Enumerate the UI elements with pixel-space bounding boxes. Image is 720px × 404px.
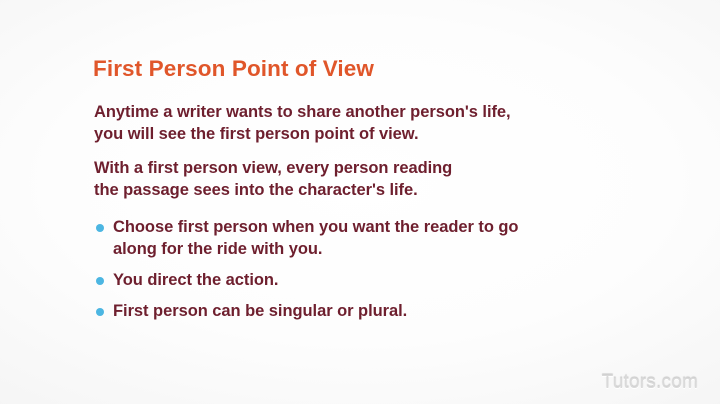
page-title: First Person Point of View	[93, 56, 374, 82]
bullet-list: Choose first person when you want the re…	[94, 216, 518, 322]
list-item: Choose first person when you want the re…	[94, 216, 518, 260]
list-item: You direct the action.	[94, 269, 518, 291]
bullet-dot-icon	[96, 224, 104, 232]
watermark-logo: Tutors.com	[602, 372, 698, 394]
list-item-line: along for the ride with you.	[113, 238, 518, 260]
slide-canvas: First Person Point of View Anytime a wri…	[0, 0, 720, 404]
paragraph-line: Anytime a writer wants to share another …	[94, 101, 511, 123]
list-item-line: First person can be singular or plural.	[113, 300, 518, 322]
list-item-line: You direct the action.	[113, 269, 518, 291]
paragraph-line: you will see the first person point of v…	[94, 123, 511, 145]
list-item-line: Choose first person when you want the re…	[113, 216, 518, 238]
paragraph-block-2: With a first person view, every person r…	[94, 157, 452, 201]
bullet-dot-icon	[96, 308, 104, 316]
list-item: First person can be singular or plural.	[94, 300, 518, 322]
paragraph-line: the passage sees into the character's li…	[94, 179, 452, 201]
paragraph-line: With a first person view, every person r…	[94, 157, 452, 179]
paragraph-block-1: Anytime a writer wants to share another …	[94, 101, 511, 145]
bullet-dot-icon	[96, 277, 104, 285]
